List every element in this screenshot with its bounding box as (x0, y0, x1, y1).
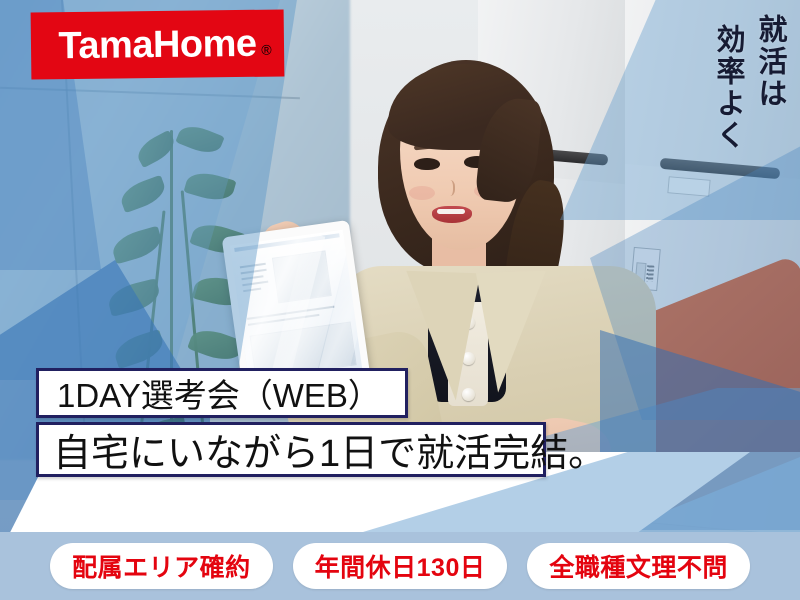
registered-trademark-icon: ® (261, 41, 272, 57)
recruiting-ad-banner: TamaHome ® 就活は 効率よく 1DAY選考会（WEB） 自宅にいながら… (0, 0, 800, 600)
logo-wordmark: TamaHome (58, 24, 256, 64)
headline-banner-primary: 1DAY選考会（WEB） (36, 368, 408, 418)
badge-annual-holidays: 年間休日130日 (293, 543, 508, 589)
eye (414, 158, 440, 170)
headline-banner-secondary: 自宅にいながら1日で就活完結。 (36, 422, 546, 477)
lapel (476, 271, 550, 393)
tamahome-logo: TamaHome ® (31, 9, 285, 79)
cheek (409, 186, 435, 200)
badge-all-majors: 全職種文理不問 (527, 543, 750, 589)
teeth (437, 209, 465, 214)
badge-strip: 配属エリア確約 年間休日130日 全職種文理不問 (0, 532, 800, 600)
badge-area-guarantee: 配属エリア確約 (50, 543, 273, 589)
nose (443, 180, 455, 196)
vertical-tagline-left: 効率よく (713, 24, 742, 152)
vertical-tagline-right: 就活は (755, 14, 784, 110)
